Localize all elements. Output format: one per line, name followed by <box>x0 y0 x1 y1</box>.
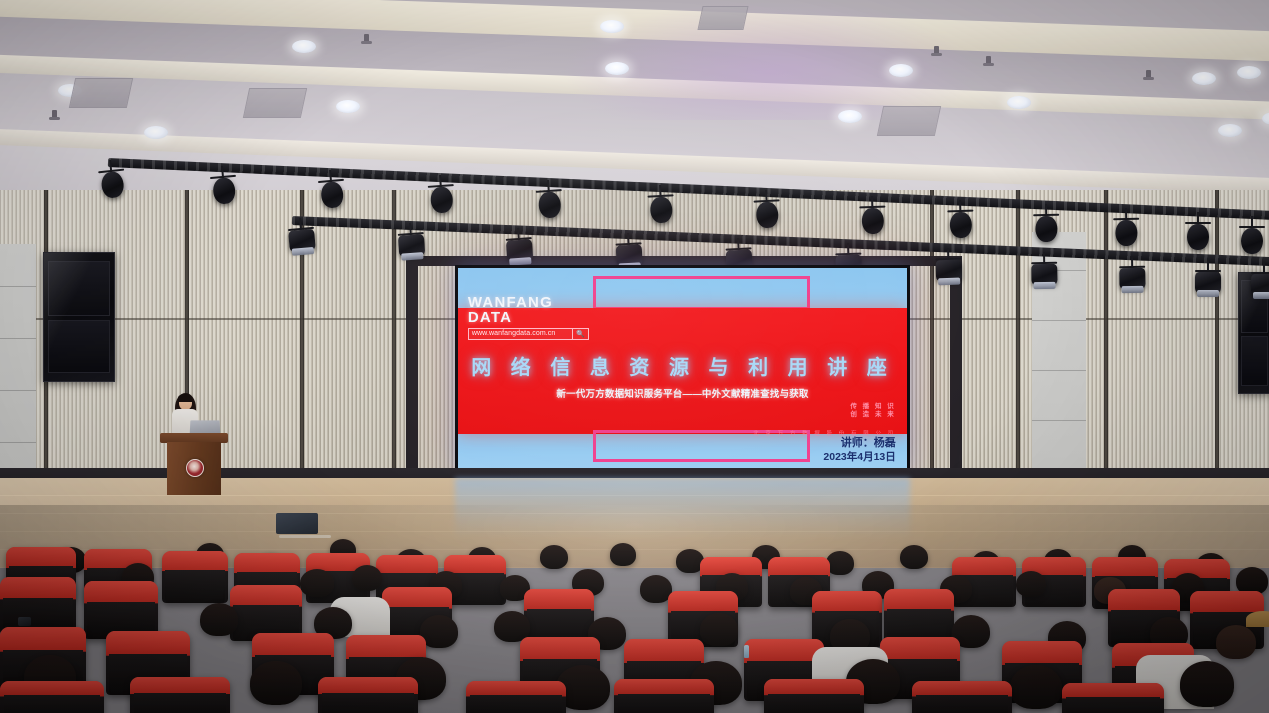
audience-head <box>1180 661 1234 707</box>
slogan-line-2: 创 造 未 来 <box>850 411 895 419</box>
presenter-name: 讲师：杨磊 <box>841 437 896 449</box>
presentation-date: 2023年4月13日 <box>823 451 895 464</box>
downlight <box>600 20 624 33</box>
audience-head <box>900 545 928 569</box>
seat <box>0 681 104 713</box>
slide-subtitle: 新一代万方数据知识服务平台——中外文献精准查找与获取 <box>458 386 907 400</box>
lectern <box>160 433 228 495</box>
led-screen: WANFANG DATA www.wanfangdata.com.cn 🔍 网 … <box>455 265 910 473</box>
seat <box>318 677 418 713</box>
audience-area <box>0 505 1269 713</box>
ceiling-color-wash <box>560 0 980 120</box>
mobile-phone <box>18 617 31 626</box>
seat <box>912 681 1012 713</box>
audience-head <box>250 661 302 705</box>
water-bottle <box>744 645 749 658</box>
wall-speaker-left <box>43 252 115 382</box>
downlight <box>336 100 360 113</box>
downlight <box>838 110 862 123</box>
slide-company-name: 北 京 万 方 数 据 股 份 有 限 公 司 <box>753 429 896 437</box>
presenter-fringe <box>178 394 192 402</box>
audience-head <box>1216 625 1256 659</box>
downlight <box>292 40 316 53</box>
wanfang-logo: WANFANG DATA <box>468 296 553 325</box>
sprinkler-head <box>1146 70 1151 79</box>
audience-head <box>300 569 334 597</box>
audience-head <box>352 565 382 591</box>
url-search-bar: www.wanfangdata.com.cn 🔍 <box>468 328 589 340</box>
downlight <box>605 62 629 75</box>
seat <box>614 679 714 713</box>
audience-head <box>700 613 738 646</box>
air-vent <box>877 106 941 136</box>
url-text: www.wanfangdata.com.cn <box>469 330 572 337</box>
search-icon: 🔍 <box>572 329 588 339</box>
downlight <box>1237 66 1261 79</box>
sprinkler-head <box>364 34 369 43</box>
university-emblem <box>186 459 204 477</box>
slide-decor-rect-top <box>593 276 810 310</box>
downlight <box>889 64 913 77</box>
downlight <box>144 126 168 139</box>
audience-head <box>540 545 568 569</box>
seat <box>162 551 228 603</box>
seat <box>466 681 566 713</box>
downlight <box>1218 124 1242 137</box>
tan-cap <box>1246 611 1269 627</box>
sprinkler-head <box>934 46 939 55</box>
screen-frame-right <box>950 256 962 478</box>
audience-head <box>610 543 636 566</box>
auditorium-photo: WANFANG DATA www.wanfangdata.com.cn 🔍 网 … <box>0 0 1269 713</box>
air-vent <box>697 6 748 30</box>
audience-head <box>200 603 238 636</box>
air-vent <box>243 88 307 118</box>
audience-head <box>826 551 854 575</box>
seat <box>130 677 230 713</box>
presenter-info: 讲师：杨磊 2023年4月13日 <box>823 437 895 464</box>
screen-frame-left <box>406 256 418 478</box>
slide-slogan: 传 播 知 识 创 造 未 来 <box>850 403 895 418</box>
brand-line-2: DATA <box>468 311 553 325</box>
sprinkler-head <box>52 110 57 119</box>
slogan-line-1: 传 播 知 识 <box>850 403 895 411</box>
air-vent <box>69 78 133 108</box>
seat <box>764 679 864 713</box>
audience-head <box>1016 571 1046 597</box>
presentation-slide: WANFANG DATA www.wanfangdata.com.cn 🔍 网 … <box>458 268 907 470</box>
downlight <box>1192 72 1216 85</box>
audience-head <box>1010 665 1062 709</box>
downlight <box>1007 96 1031 109</box>
seat <box>1062 683 1164 713</box>
sprinkler-head <box>986 56 991 65</box>
slide-title: 网 络 信 息 资 源 与 利 用 讲 座 <box>458 351 907 380</box>
